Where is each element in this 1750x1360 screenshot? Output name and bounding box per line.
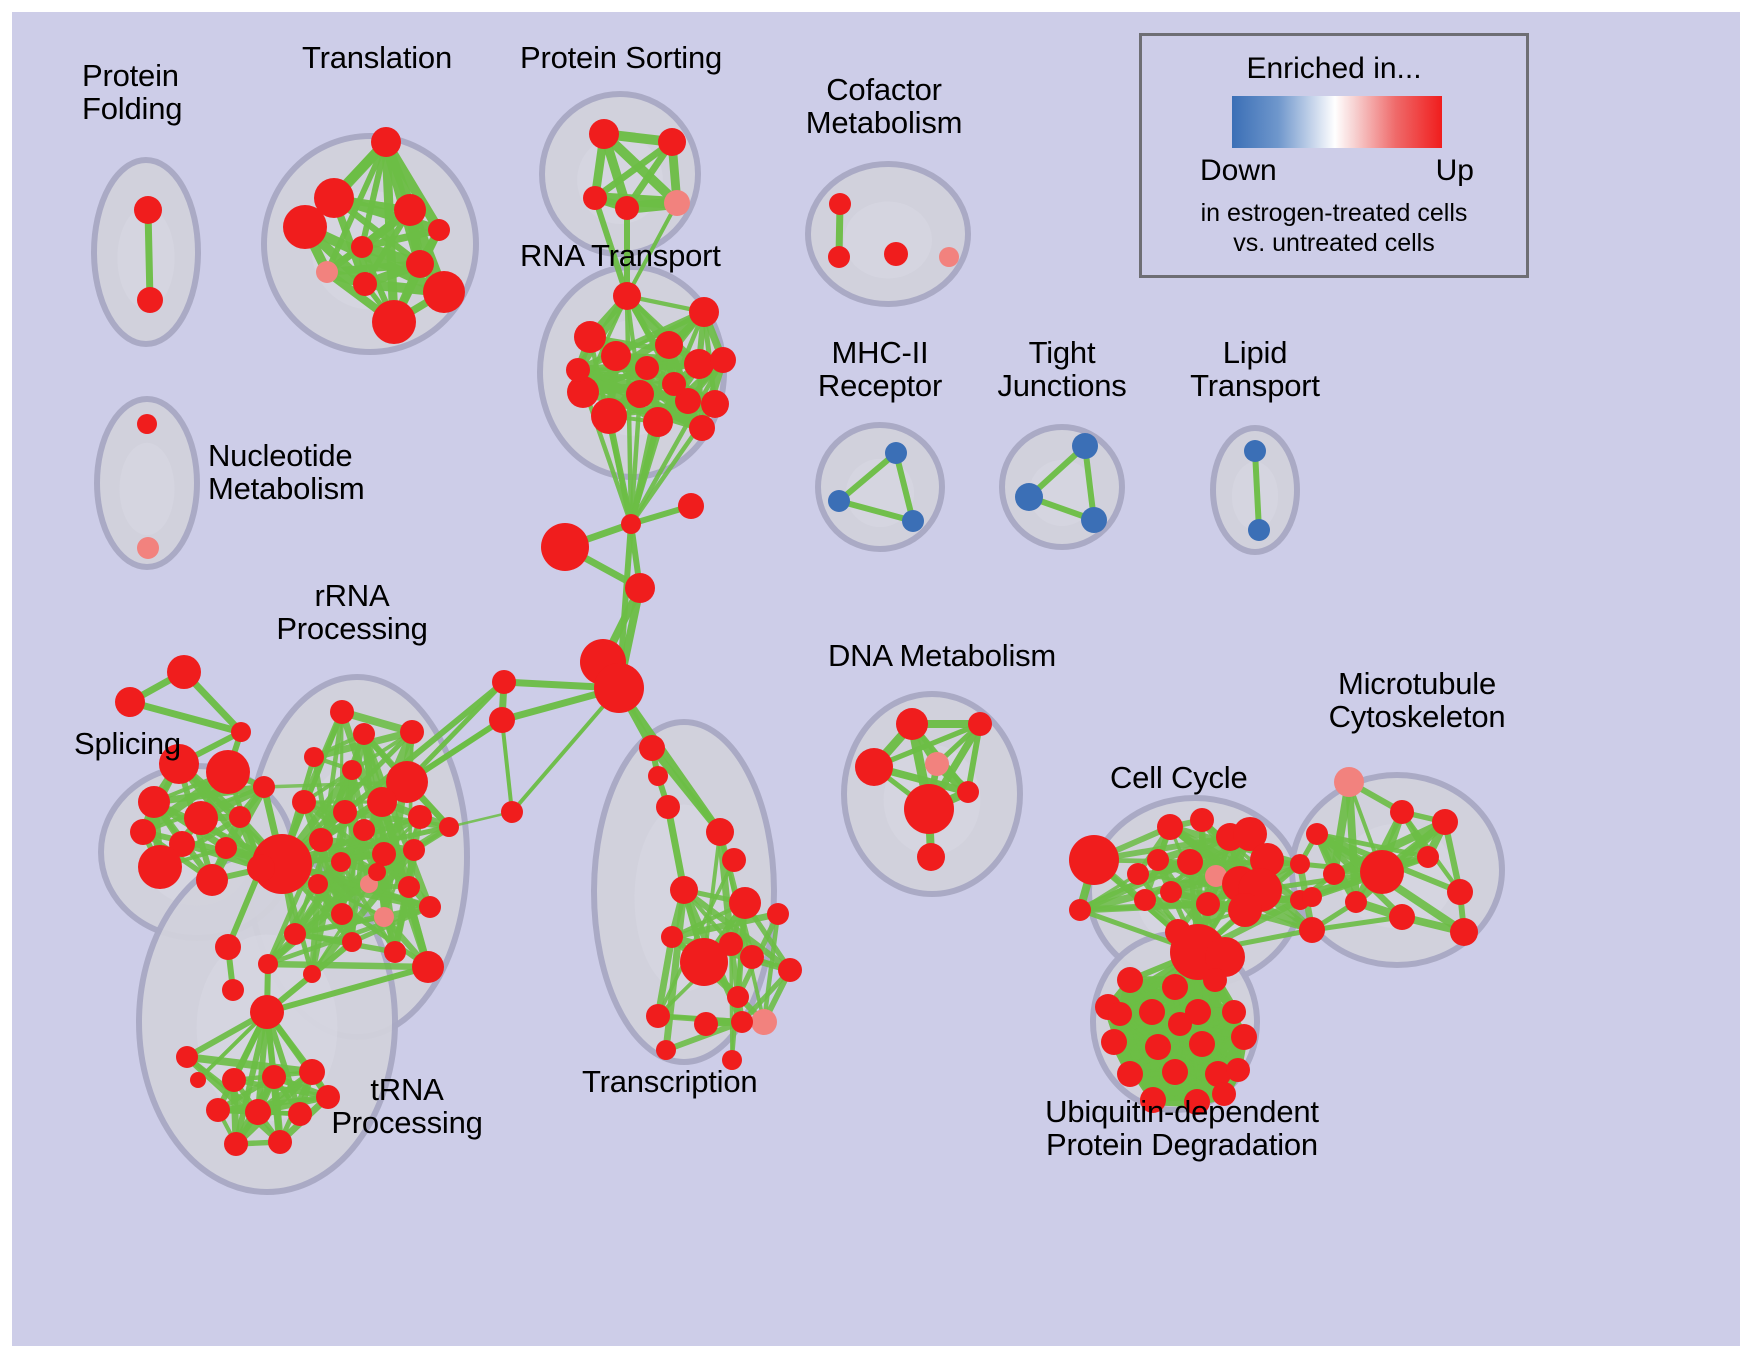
node[interactable] — [1360, 850, 1404, 894]
node[interactable] — [250, 995, 284, 1029]
node[interactable] — [615, 196, 639, 220]
node[interactable] — [1248, 519, 1270, 541]
node[interactable] — [885, 442, 907, 464]
network-panel: ProteinFolding Translation Protein Sorti… — [12, 12, 1740, 1346]
node[interactable] — [408, 805, 432, 829]
node[interactable] — [664, 190, 690, 216]
node[interactable] — [1334, 767, 1364, 797]
node[interactable] — [643, 407, 673, 437]
node[interactable] — [678, 493, 704, 519]
node[interactable] — [1177, 849, 1203, 875]
node[interactable] — [262, 1065, 286, 1089]
node[interactable] — [1147, 849, 1169, 871]
cluster-label-trna-processing: tRNAProcessing — [302, 1074, 512, 1140]
legend-subtitle-line2: vs. untreated cells — [1142, 228, 1526, 258]
node[interactable] — [583, 186, 607, 210]
node[interactable] — [591, 398, 627, 434]
node[interactable] — [342, 932, 362, 952]
node[interactable] — [829, 193, 851, 215]
cluster-label-ubiquitin-protein-degradation: Ubiquitin-dependentProtein Degradation — [992, 1096, 1372, 1162]
cluster-hull-inner — [120, 443, 175, 535]
node[interactable] — [292, 790, 316, 814]
legend-down-label: Down — [1200, 154, 1277, 188]
node[interactable] — [419, 896, 441, 918]
legend-title: Enriched in... — [1142, 52, 1526, 86]
node[interactable] — [1299, 917, 1325, 943]
node[interactable] — [706, 818, 734, 846]
node[interactable] — [767, 903, 789, 925]
node[interactable] — [384, 941, 406, 963]
cluster-label-cofactor-metabolism: CofactorMetabolism — [784, 74, 984, 140]
node[interactable] — [684, 349, 714, 379]
node[interactable] — [283, 205, 327, 249]
cluster-label-rna-transport: RNA Transport — [520, 240, 721, 273]
node[interactable] — [501, 801, 523, 823]
node[interactable] — [303, 965, 321, 983]
node[interactable] — [1323, 863, 1345, 885]
node[interactable] — [1139, 999, 1165, 1025]
node[interactable] — [353, 272, 377, 296]
node[interactable] — [1432, 809, 1458, 835]
node[interactable] — [353, 819, 375, 841]
cluster-label-transcription: Transcription — [582, 1066, 757, 1099]
node[interactable] — [1222, 1000, 1246, 1024]
node[interactable] — [828, 246, 850, 268]
cluster-label-translation: Translation — [302, 42, 452, 75]
node[interactable] — [1345, 891, 1367, 913]
node[interactable] — [601, 341, 631, 371]
node[interactable] — [689, 415, 715, 441]
node[interactable] — [258, 954, 278, 974]
node[interactable] — [342, 760, 362, 780]
node[interactable] — [656, 795, 680, 819]
node[interactable] — [680, 938, 728, 986]
node[interactable] — [1134, 889, 1156, 911]
node[interactable] — [245, 1099, 271, 1125]
node[interactable] — [229, 806, 251, 828]
node[interactable] — [957, 781, 979, 803]
cluster-label-lipid-transport: LipidTransport — [1167, 337, 1343, 403]
node[interactable] — [137, 414, 157, 434]
legend-subtitle: in estrogen-treated cells vs. untreated … — [1142, 198, 1526, 258]
node[interactable] — [138, 845, 182, 889]
edge — [268, 964, 428, 967]
node[interactable] — [1417, 846, 1439, 868]
node[interactable] — [917, 843, 945, 871]
node[interactable] — [309, 828, 333, 852]
node[interactable] — [751, 1009, 777, 1035]
cluster-label-dna-metabolism: DNA Metabolism — [828, 640, 1056, 673]
node[interactable] — [222, 1068, 246, 1092]
node[interactable] — [371, 127, 401, 157]
node[interactable] — [635, 356, 659, 380]
legend-color-gradient-bar — [1232, 96, 1442, 148]
node[interactable] — [968, 712, 992, 736]
node[interactable] — [137, 287, 163, 313]
cluster-hull-inner — [844, 202, 932, 279]
cluster-label-rrna-processing: rRNAProcessing — [252, 580, 452, 646]
node[interactable] — [694, 1012, 718, 1036]
node[interactable] — [626, 380, 654, 408]
node[interactable] — [115, 687, 145, 717]
node[interactable] — [308, 874, 328, 894]
node[interactable] — [1228, 893, 1262, 927]
node[interactable] — [1226, 1058, 1250, 1082]
node[interactable] — [1069, 899, 1091, 921]
node[interactable] — [428, 219, 450, 241]
edge — [1255, 451, 1259, 530]
node[interactable] — [134, 196, 162, 224]
node[interactable] — [333, 800, 357, 824]
node[interactable] — [727, 986, 749, 1008]
node[interactable] — [648, 766, 668, 786]
legend-box: Enriched in... Down Up in estrogen-treat… — [1139, 33, 1529, 278]
node[interactable] — [176, 1046, 198, 1068]
node[interactable] — [828, 490, 850, 512]
node[interactable] — [1162, 1059, 1188, 1085]
node[interactable] — [368, 863, 386, 881]
node[interactable] — [594, 663, 644, 713]
node[interactable] — [423, 271, 465, 313]
node[interactable] — [206, 750, 250, 794]
node[interactable] — [374, 907, 394, 927]
cluster-label-tight-junctions: TightJunctions — [974, 337, 1150, 403]
node[interactable] — [1302, 887, 1322, 907]
node[interactable] — [925, 752, 949, 776]
node[interactable] — [1190, 808, 1214, 832]
node[interactable] — [589, 119, 619, 149]
node[interactable] — [206, 1098, 230, 1122]
legend-up-label: Up — [1436, 154, 1474, 188]
node[interactable] — [268, 1130, 292, 1154]
legend-subtitle-line1: in estrogen-treated cells — [1142, 198, 1526, 228]
node[interactable] — [215, 934, 241, 960]
node[interactable] — [1015, 483, 1043, 511]
node[interactable] — [661, 926, 683, 948]
node[interactable] — [710, 347, 736, 373]
node[interactable] — [541, 523, 589, 571]
node[interactable] — [621, 514, 641, 534]
node[interactable] — [1072, 433, 1098, 459]
node[interactable] — [1390, 800, 1414, 824]
node[interactable] — [331, 852, 351, 872]
node[interactable] — [1450, 918, 1478, 946]
node[interactable] — [689, 297, 719, 327]
node[interactable] — [372, 842, 396, 866]
node[interactable] — [670, 876, 698, 904]
node[interactable] — [1117, 1061, 1143, 1087]
node[interactable] — [1244, 440, 1266, 462]
node[interactable] — [902, 510, 924, 532]
cluster-label-nucleotide-metabolism: NucleotideMetabolism — [208, 440, 365, 506]
node[interactable] — [778, 958, 802, 982]
node[interactable] — [939, 247, 959, 267]
node[interactable] — [1145, 1034, 1171, 1060]
node[interactable] — [167, 655, 201, 689]
node[interactable] — [639, 735, 665, 761]
node[interactable] — [658, 128, 686, 156]
cluster-label-splicing: Splicing — [74, 728, 181, 761]
node[interactable] — [492, 670, 516, 694]
cluster-label-protein-folding: ProteinFolding — [82, 60, 182, 126]
node[interactable] — [247, 854, 275, 882]
node[interactable] — [884, 242, 908, 266]
node[interactable] — [331, 903, 353, 925]
edge — [502, 720, 512, 812]
node[interactable] — [394, 194, 426, 226]
node[interactable] — [625, 573, 655, 603]
cluster-label-protein-sorting: Protein Sorting — [520, 42, 722, 75]
node[interactable] — [1306, 823, 1328, 845]
node[interactable] — [304, 747, 324, 767]
node[interactable] — [253, 776, 275, 798]
node[interactable] — [1162, 974, 1188, 1000]
node[interactable] — [1389, 904, 1415, 930]
node[interactable] — [284, 923, 306, 945]
node[interactable] — [215, 837, 237, 859]
node[interactable] — [224, 1132, 248, 1156]
node[interactable] — [400, 720, 424, 744]
node[interactable] — [439, 817, 459, 837]
node[interactable] — [403, 839, 425, 861]
node[interactable] — [130, 819, 156, 845]
node[interactable] — [1069, 835, 1119, 885]
cluster-label-cell-cycle: Cell Cycle — [1110, 762, 1248, 795]
node[interactable] — [367, 787, 397, 817]
node[interactable] — [656, 1040, 676, 1060]
node[interactable] — [1290, 854, 1310, 874]
node[interactable] — [1157, 814, 1183, 840]
node[interactable] — [231, 722, 251, 742]
node[interactable] — [412, 951, 444, 983]
node[interactable] — [729, 887, 761, 919]
cluster-label-microtubule-cytoskeleton: MicrotubuleCytoskeleton — [1292, 668, 1542, 734]
node[interactable] — [731, 1011, 753, 1033]
node[interactable] — [722, 848, 746, 872]
node[interactable] — [1101, 1029, 1127, 1055]
node[interactable] — [1160, 881, 1182, 903]
node[interactable] — [646, 1004, 670, 1028]
node[interactable] — [1127, 863, 1149, 885]
node[interactable] — [1203, 968, 1227, 992]
node[interactable] — [489, 707, 515, 733]
node[interactable] — [398, 876, 420, 898]
node[interactable] — [137, 537, 159, 559]
node[interactable] — [190, 1072, 206, 1088]
node[interactable] — [1447, 879, 1473, 905]
node[interactable] — [566, 358, 590, 382]
node[interactable] — [353, 723, 375, 745]
node[interactable] — [574, 321, 606, 353]
node[interactable] — [740, 945, 764, 969]
node[interactable] — [196, 864, 228, 896]
node[interactable] — [655, 331, 683, 359]
node[interactable] — [351, 236, 373, 258]
cluster-label-mhc-ii-receptor: MHC-IIReceptor — [790, 337, 970, 403]
node[interactable] — [1196, 892, 1220, 916]
node[interactable] — [855, 748, 893, 786]
node[interactable] — [372, 300, 416, 344]
node[interactable] — [222, 979, 244, 1001]
node[interactable] — [1189, 1031, 1215, 1057]
node[interactable] — [1231, 1024, 1257, 1050]
node[interactable] — [896, 708, 928, 740]
node[interactable] — [1108, 1002, 1132, 1026]
node[interactable] — [1168, 1012, 1192, 1036]
node[interactable] — [1117, 967, 1143, 993]
node[interactable] — [1081, 507, 1107, 533]
node[interactable] — [613, 282, 641, 310]
node[interactable] — [662, 372, 686, 396]
figure-canvas: ProteinFolding Translation Protein Sorti… — [0, 0, 1750, 1360]
node[interactable] — [316, 261, 338, 283]
node[interactable] — [184, 801, 218, 835]
node[interactable] — [701, 390, 729, 418]
node[interactable] — [330, 700, 354, 724]
node[interactable] — [904, 784, 954, 834]
node[interactable] — [138, 786, 170, 818]
node[interactable] — [406, 250, 434, 278]
